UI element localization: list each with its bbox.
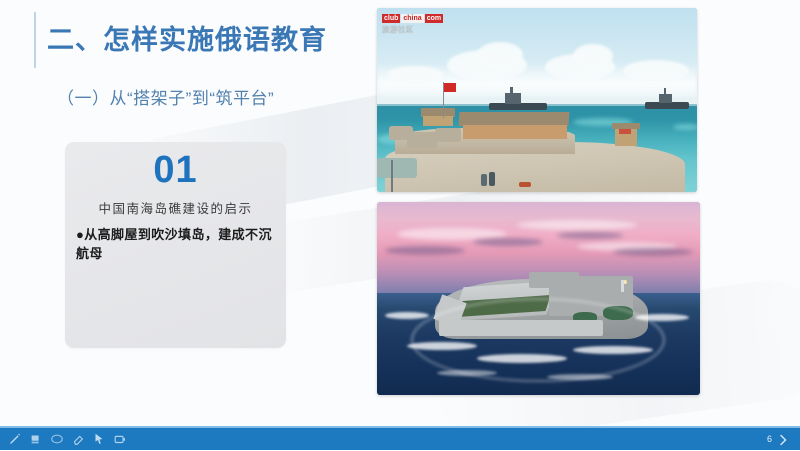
photo-ship-mast [510,87,513,95]
photo-cloud [517,220,637,230]
photo-hut-sign [619,129,631,134]
photo-cloud-dark [473,238,543,246]
card-number: 01 [65,149,286,192]
highlighter-icon[interactable] [29,432,43,446]
photo-ship [489,103,547,110]
photo-reef-outpost[interactable]: club china com 旅游社区 [377,8,697,192]
photo-ship-superstructure [659,94,672,103]
photo-hut [423,116,453,126]
camera-icon[interactable] [113,432,127,446]
photo-lighthouse [621,280,624,292]
photo-wave [635,314,689,321]
photo-cloud-dark [385,246,465,255]
photo-person [481,174,487,186]
photo-barracks-roof [459,112,570,126]
page-title: 二、怎样实施俄语教育 [47,18,327,57]
photo-wave-ring [411,298,665,382]
photo-wave [437,370,497,376]
pointer-icon[interactable] [92,432,106,446]
photo-rock [435,128,461,142]
photo-wave [477,354,567,363]
photo-rock [407,132,437,148]
photo-barracks-wall [463,125,567,139]
photo-cloud-dark [613,248,693,256]
photo-island-airstrip[interactable] [377,202,700,395]
photo-facility-block [529,272,579,288]
photo-post [391,160,393,192]
card-body-text: ●从高脚屋到吹沙填岛，建成不沉航母 [76,226,277,264]
photo-cloud-dark [557,232,623,239]
photo-wave [407,342,477,350]
info-card: 01 中国南海岛礁建设的启示 ●从高脚屋到吹沙填岛，建成不沉航母 [65,142,286,348]
shape-icon[interactable] [50,432,64,446]
page-subtitle: （一）从“搭架子”到“筑平台” [57,84,274,109]
title-accent-rule [34,12,36,68]
photo-person [489,172,495,186]
watermark-chip-com: com [425,14,443,23]
photo-cloud [477,42,523,68]
chevron-right-icon[interactable] [779,433,788,445]
page-number: 6 [767,434,772,444]
watermark-chip-club: club [382,14,400,23]
photo-cloud [387,66,443,84]
photo-wave [573,346,653,354]
bottom-toolbar: 6 [0,426,800,450]
photo-flag [444,83,456,92]
photo-watermark: club china com 旅游社区 [382,14,443,35]
photo-ship-superstructure [505,93,521,104]
photo-ship [645,102,689,109]
watermark-chip-china: china [401,14,423,23]
annotation-tool-strip [8,432,127,446]
photo-cloud [623,60,689,82]
page-indicator-group: 6 [767,433,788,445]
pen-icon[interactable] [8,432,22,446]
photo-rock [377,158,417,178]
card-heading: 中国南海岛礁建设的启示 [65,198,286,217]
photo-ship-mast [664,88,666,95]
photo-wave [385,312,429,319]
photo-cloud [573,44,613,68]
eraser-icon[interactable] [71,432,85,446]
photo-equipment [519,182,531,187]
photo-wave [547,374,613,380]
photo-shallow-water [673,124,697,130]
watermark-subtext: 旅游社区 [382,24,443,35]
